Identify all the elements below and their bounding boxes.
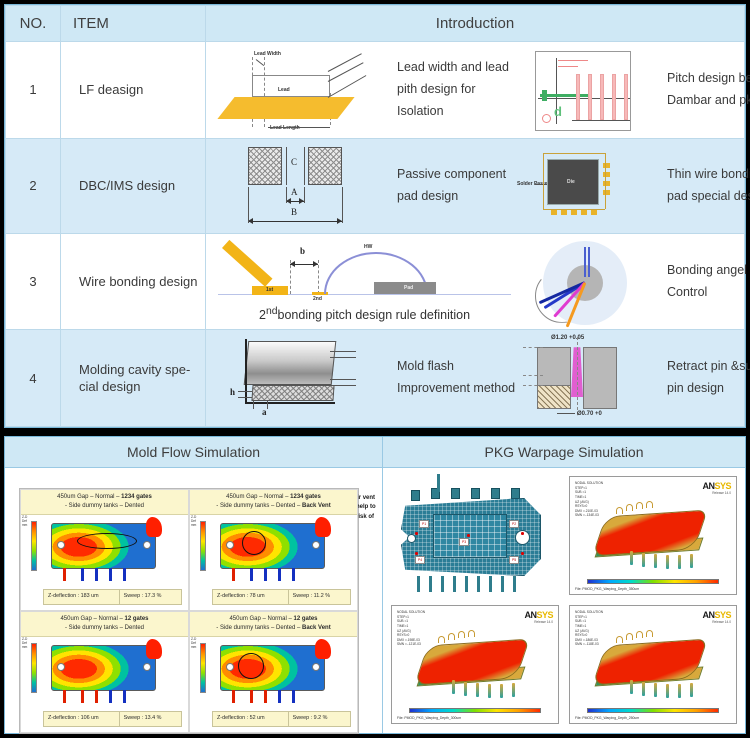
row-introduction: C A B Passive component pad design: [206, 138, 745, 233]
case-title-bold: 1234 gates: [121, 494, 152, 500]
figure-lead-frame-3d: Lead Width Lead Lead Length: [212, 47, 397, 133]
table-row: 2 DBC/IMS design C A: [6, 138, 745, 233]
row-item-label: Molding cavity spe- cial design: [61, 330, 206, 427]
pkg-3d-model: [594, 630, 712, 694]
figure-label-second-bond: 2nd: [313, 296, 322, 302]
figure-label-lead-width: Lead Width: [254, 51, 281, 57]
mold-flow-title: Mold Flow Simulation: [5, 437, 382, 468]
color-scale-bar: [200, 643, 206, 693]
case-subtitle-pre: - Side dummy tanks – Dented: [65, 503, 144, 509]
column-header-introduction: Introduction: [206, 6, 745, 42]
mold-flow-case-grid: 450um Gap – Normal – 1234 gates - Side d…: [19, 488, 359, 734]
mesh-point-tag: P3: [459, 538, 469, 546]
column-header-no: NO.: [6, 6, 61, 42]
ansys-logo: ANSYS: [702, 610, 731, 620]
row-number: 3: [6, 233, 61, 330]
table-header-row: NO. ITEM Introduction: [6, 6, 745, 42]
caption-suffix: bonding pitch design rule definition: [278, 308, 471, 322]
ansys-logo-a: AN: [702, 481, 714, 491]
row-item-line1: Molding cavity spe-: [79, 361, 205, 379]
document-page: NO. ITEM Introduction 1 LF deasign Lead …: [0, 0, 750, 738]
row-item-line2: cial design: [79, 378, 205, 396]
case-subtitle-pre: - Side dummy tanks – Dented: [65, 625, 144, 631]
ansys-footer-text: File: PMOD_PKG_Warping_Depth_300um: [397, 716, 461, 720]
mesh-point-tag: P1: [419, 520, 429, 528]
case-subtitle-bold: Back Vent: [302, 503, 331, 509]
row-description-left: Mold flash Improvement method: [397, 356, 517, 400]
ansys-logo: ANSYS: [524, 610, 553, 620]
simulation-card: Mold Flow Simulation Back side air vent …: [4, 436, 746, 734]
pkg-mesh-model: P1 P2 P3 P4 P5: [389, 474, 561, 597]
figure-caption-bonding-pitch: 2ndbonding pitch design rule definition: [212, 306, 517, 322]
figure-mold-cavity: h a: [212, 335, 397, 421]
first-bond-wedge: [222, 239, 272, 286]
mold-flow-body: Back side air vent option can help to re…: [5, 468, 382, 732]
case-title: 450um Gap – Normal – 1234 gates - Side d…: [21, 490, 188, 515]
fea-contour-plot: Z-DDefmm: [190, 515, 357, 589]
figure-label-die: Die: [567, 179, 575, 185]
pkg-warpage-grid: P1 P2 P3 P4 P5: [385, 470, 743, 730]
ansys-color-bar: [587, 579, 720, 584]
ansys-logo-a: AN: [702, 610, 714, 620]
crosshair-icon: [542, 114, 551, 123]
z-deflection-value: Z-deflection : 106 um: [44, 712, 120, 726]
row-item-label: Wire bonding design: [61, 233, 206, 330]
column-header-item: ITEM: [61, 6, 206, 42]
row-number: 1: [6, 42, 61, 139]
case-subtitle-pre: - Side dummy tanks – Dented –: [216, 503, 302, 509]
figure-label-a: A: [291, 187, 298, 197]
z-deflection-value: Z-deflection : 52 um: [213, 712, 289, 726]
ansys-warpage-plot: NODAL SOLUTION STEP=1 SUB =1 TIME=1 UZ (…: [567, 603, 739, 726]
pkg-warpage-body: P1 P2 P3 P4 P5: [383, 468, 745, 732]
figure-wire-bond-profile-wrap: 1st b 2nd HW P: [212, 242, 517, 322]
mold-flow-panel: Mold Flow Simulation Back side air vent …: [5, 437, 383, 733]
color-scale-labels: Z-DDefmm: [191, 637, 196, 649]
fea-contour-plot: Z-DDefmm: [21, 515, 188, 589]
ansys-logo: ANSYS: [702, 481, 731, 491]
case-values: Z-deflection : 183 um Sweep : 17.3 %: [43, 589, 182, 605]
pkg-3d-model: [416, 630, 534, 694]
row-description-right: Bonding angel Control: [667, 260, 750, 304]
color-scale-bar: [31, 643, 37, 693]
row-number: 4: [6, 330, 61, 427]
ansys-color-bar: [409, 708, 542, 713]
figure-label-c: C: [291, 157, 297, 167]
row-item-label: DBC/IMS design: [61, 138, 206, 233]
fea-part-shape: [51, 523, 156, 569]
annotation-circle: [238, 653, 264, 679]
row-introduction: 1st b 2nd HW P: [206, 233, 745, 330]
figure-label-b: b: [300, 246, 305, 256]
row-introduction: Lead Width Lead Lead Length: [206, 42, 745, 139]
pkg-warpage-panel: PKG Warpage Simulation: [383, 437, 745, 733]
mesh-point-tag: P4: [415, 556, 425, 564]
fea-part-shape: [51, 645, 156, 691]
figure-bonding-angle-polar: [517, 239, 667, 325]
color-scale-bar: [200, 521, 206, 571]
mold-flow-case: 450um Gap – Normal – 12 gates - Side dum…: [189, 611, 358, 733]
mesh-point-tag: P2: [509, 520, 519, 528]
mesh-point-tag: P5: [509, 556, 519, 564]
table-row: 1 LF deasign Lead Width Lead Lead Length: [6, 42, 745, 139]
ansys-release-label: Release 14.0: [712, 491, 731, 495]
mold-flow-case: 450um Gap – Normal – 12 gates - Side dum…: [20, 611, 189, 733]
figure-retract-pin: Ø1.20 +0.05 Ø0.70 +0: [517, 335, 667, 421]
ansys-logo-a: AN: [524, 610, 536, 620]
row-description-right: Retract pin &support pin design: [667, 356, 750, 400]
caption-superscript: nd: [266, 306, 278, 317]
row-description-left: Passive component pad design: [397, 164, 517, 208]
ansys-release-label: Release 14.0: [712, 620, 731, 624]
case-title-bold: 12 gates: [294, 616, 318, 622]
figure-label-d: d: [554, 104, 562, 119]
row-description-right: Thin wire bonding pad special design: [667, 164, 750, 208]
caption-prefix: 2: [259, 308, 266, 322]
ansys-footer-text: File: PMOD_PKG_Warping_Depth_250um: [575, 716, 639, 720]
figure-dambar-pitch-cad: d: [517, 47, 667, 133]
figure-label-bottom-diameter: Ø0.70 +0: [577, 411, 602, 417]
pkg-warpage-title: PKG Warpage Simulation: [383, 437, 745, 468]
figure-passive-component-pads: C A B: [212, 143, 397, 229]
color-scale-bar: [31, 521, 37, 571]
ansys-logo-s: SYS: [536, 610, 553, 620]
row-description-left: Lead width and lead pith design for Isol…: [397, 57, 517, 123]
case-title: 450um Gap – Normal – 12 gates - Side dum…: [190, 612, 357, 637]
case-title-pre: 450um Gap – Normal –: [226, 494, 290, 500]
row-introduction: h a Mold flash Improvement method Ø1.20 …: [206, 330, 745, 427]
fea-part-shape: [220, 645, 325, 691]
figure-label-top-diameter: Ø1.20 +0.05: [551, 335, 584, 341]
mold-flow-case: 450um Gap – Normal – 1234 gates - Side d…: [189, 489, 358, 611]
ansys-warpage-plot: NODAL SOLUTION STEP=1 SUB =1 TIME=1 UZ (…: [389, 603, 561, 726]
figure-thin-wire-bonding-pad: Die Solder Paste: [517, 143, 667, 229]
case-values: Z-deflection : 78 um Sweep : 11.2 %: [212, 589, 351, 605]
row-number: 2: [6, 138, 61, 233]
case-title-bold: 1234 gates: [290, 494, 321, 500]
color-scale-labels: Z-DDefmm: [191, 515, 196, 527]
pkg-3d-model: [594, 501, 712, 565]
row-description-right: Pitch design between Dambar and pkg side: [667, 68, 750, 112]
annotation-ellipse: [77, 533, 137, 549]
annotation-circle: [242, 531, 266, 555]
case-subtitle-bold: Back Vent: [302, 625, 331, 631]
fea-part-shape: [220, 523, 325, 569]
case-values: Z-deflection : 106 um Sweep : 13.4 %: [43, 711, 182, 727]
design-items-table: NO. ITEM Introduction 1 LF deasign Lead …: [5, 5, 745, 427]
sweep-value: Sweep : 13.4 %: [120, 712, 181, 726]
case-title: 450um Gap – Normal – 12 gates - Side dum…: [21, 612, 188, 637]
figure-label-lead-length: Lead Length: [270, 125, 300, 131]
figure-label-a: a: [262, 407, 267, 417]
ansys-warpage-plot: NODAL SOLUTION STEP=1 SUB =1 TIME=1 UZ (…: [567, 474, 739, 597]
figure-label-pad: Pad: [404, 285, 413, 291]
lead-plate-shape: [217, 97, 354, 119]
sweep-value: Sweep : 9.2 %: [289, 712, 350, 726]
figure-label-first-bond: 1st: [266, 287, 273, 293]
ansys-color-bar: [587, 708, 720, 713]
row-item-label: LF deasign: [61, 42, 206, 139]
fea-contour-plot: Z-DDefmm: [21, 637, 188, 711]
sweep-value: Sweep : 11.2 %: [289, 590, 350, 604]
figure-wire-bond-profile: 1st b 2nd HW P: [212, 242, 517, 304]
ansys-footer-text: File: PMOD_PKG_Warping_Depth_350um: [575, 587, 639, 591]
z-deflection-value: Z-deflection : 183 um: [44, 590, 120, 604]
case-title: 450um Gap – Normal – 1234 gates - Side d…: [190, 490, 357, 515]
design-items-table-card: NO. ITEM Introduction 1 LF deasign Lead …: [4, 4, 746, 428]
fea-contour-plot: Z-DDefmm: [190, 637, 357, 711]
color-scale-labels: Z-DDefmm: [22, 637, 27, 649]
case-title-pre: 450um Gap – Normal –: [60, 616, 124, 622]
ansys-logo-s: SYS: [714, 481, 731, 491]
figure-label-loop-height: HW: [364, 244, 372, 250]
sweep-value: Sweep : 17.3 %: [120, 590, 181, 604]
table-row: 3 Wire bonding design 1st: [6, 233, 745, 330]
figure-label-h: h: [230, 387, 235, 397]
green-dimension-marker: [540, 94, 592, 97]
case-title-pre: 450um Gap – Normal –: [229, 616, 293, 622]
mold-flow-case: 450um Gap – Normal – 1234 gates - Side d…: [20, 489, 189, 611]
case-title-pre: 450um Gap – Normal –: [57, 494, 121, 500]
case-title-bold: 12 gates: [125, 616, 149, 622]
table-row: 4 Molding cavity spe- cial design: [6, 330, 745, 427]
case-subtitle-pre: - Side dummy tanks – Dented –: [216, 625, 302, 631]
ansys-release-label: Release 14.0: [534, 620, 553, 624]
color-scale-labels: Z-DDefmm: [22, 515, 27, 527]
z-deflection-value: Z-deflection : 78 um: [213, 590, 289, 604]
ansys-logo-s: SYS: [714, 610, 731, 620]
case-values: Z-deflection : 52 um Sweep : 9.2 %: [212, 711, 351, 727]
figure-label-b: B: [291, 207, 297, 217]
